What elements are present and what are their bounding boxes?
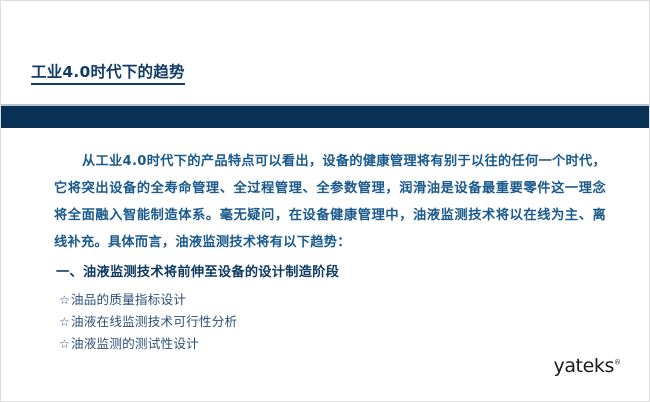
registered-trademark-icon: ® xyxy=(614,359,621,367)
body-text-block: 从工业4.0时代下的产品特点可以看出，设备的健康管理将有别于以往的任何一个时代，… xyxy=(54,148,606,256)
star-icon: ☆ xyxy=(59,293,71,307)
list-item: ☆油液在线监测技术可行性分析 xyxy=(59,311,237,333)
list-item: ☆油液监测的测试性设计 xyxy=(59,333,237,355)
title-divider-bar xyxy=(1,106,650,128)
list-item-label: 油液在线监测技术可行性分析 xyxy=(71,314,237,329)
brand-logo-text: yateks xyxy=(553,355,614,377)
star-icon: ☆ xyxy=(59,337,71,351)
list-item-label: 油液监测的测试性设计 xyxy=(71,336,199,351)
presentation-slide: 工业4.0时代下的趋势 从工业4.0时代下的产品特点可以看出，设备的健康管理将有… xyxy=(0,0,650,402)
list-item-label: 油品的质量指标设计 xyxy=(71,292,186,307)
star-icon: ☆ xyxy=(59,315,71,329)
list-item: ☆油品的质量指标设计 xyxy=(59,289,237,311)
bullet-list: ☆油品的质量指标设计 ☆油液在线监测技术可行性分析 ☆油液监测的测试性设计 xyxy=(59,289,237,355)
section-heading: 一、油液监测技术将前伸至设备的设计制造阶段 xyxy=(56,263,339,283)
brand-logo: yateks® xyxy=(553,355,621,377)
body-paragraph: 从工业4.0时代下的产品特点可以看出，设备的健康管理将有别于以往的任何一个时代，… xyxy=(54,148,606,256)
page-title: 工业4.0时代下的趋势 xyxy=(31,63,185,85)
